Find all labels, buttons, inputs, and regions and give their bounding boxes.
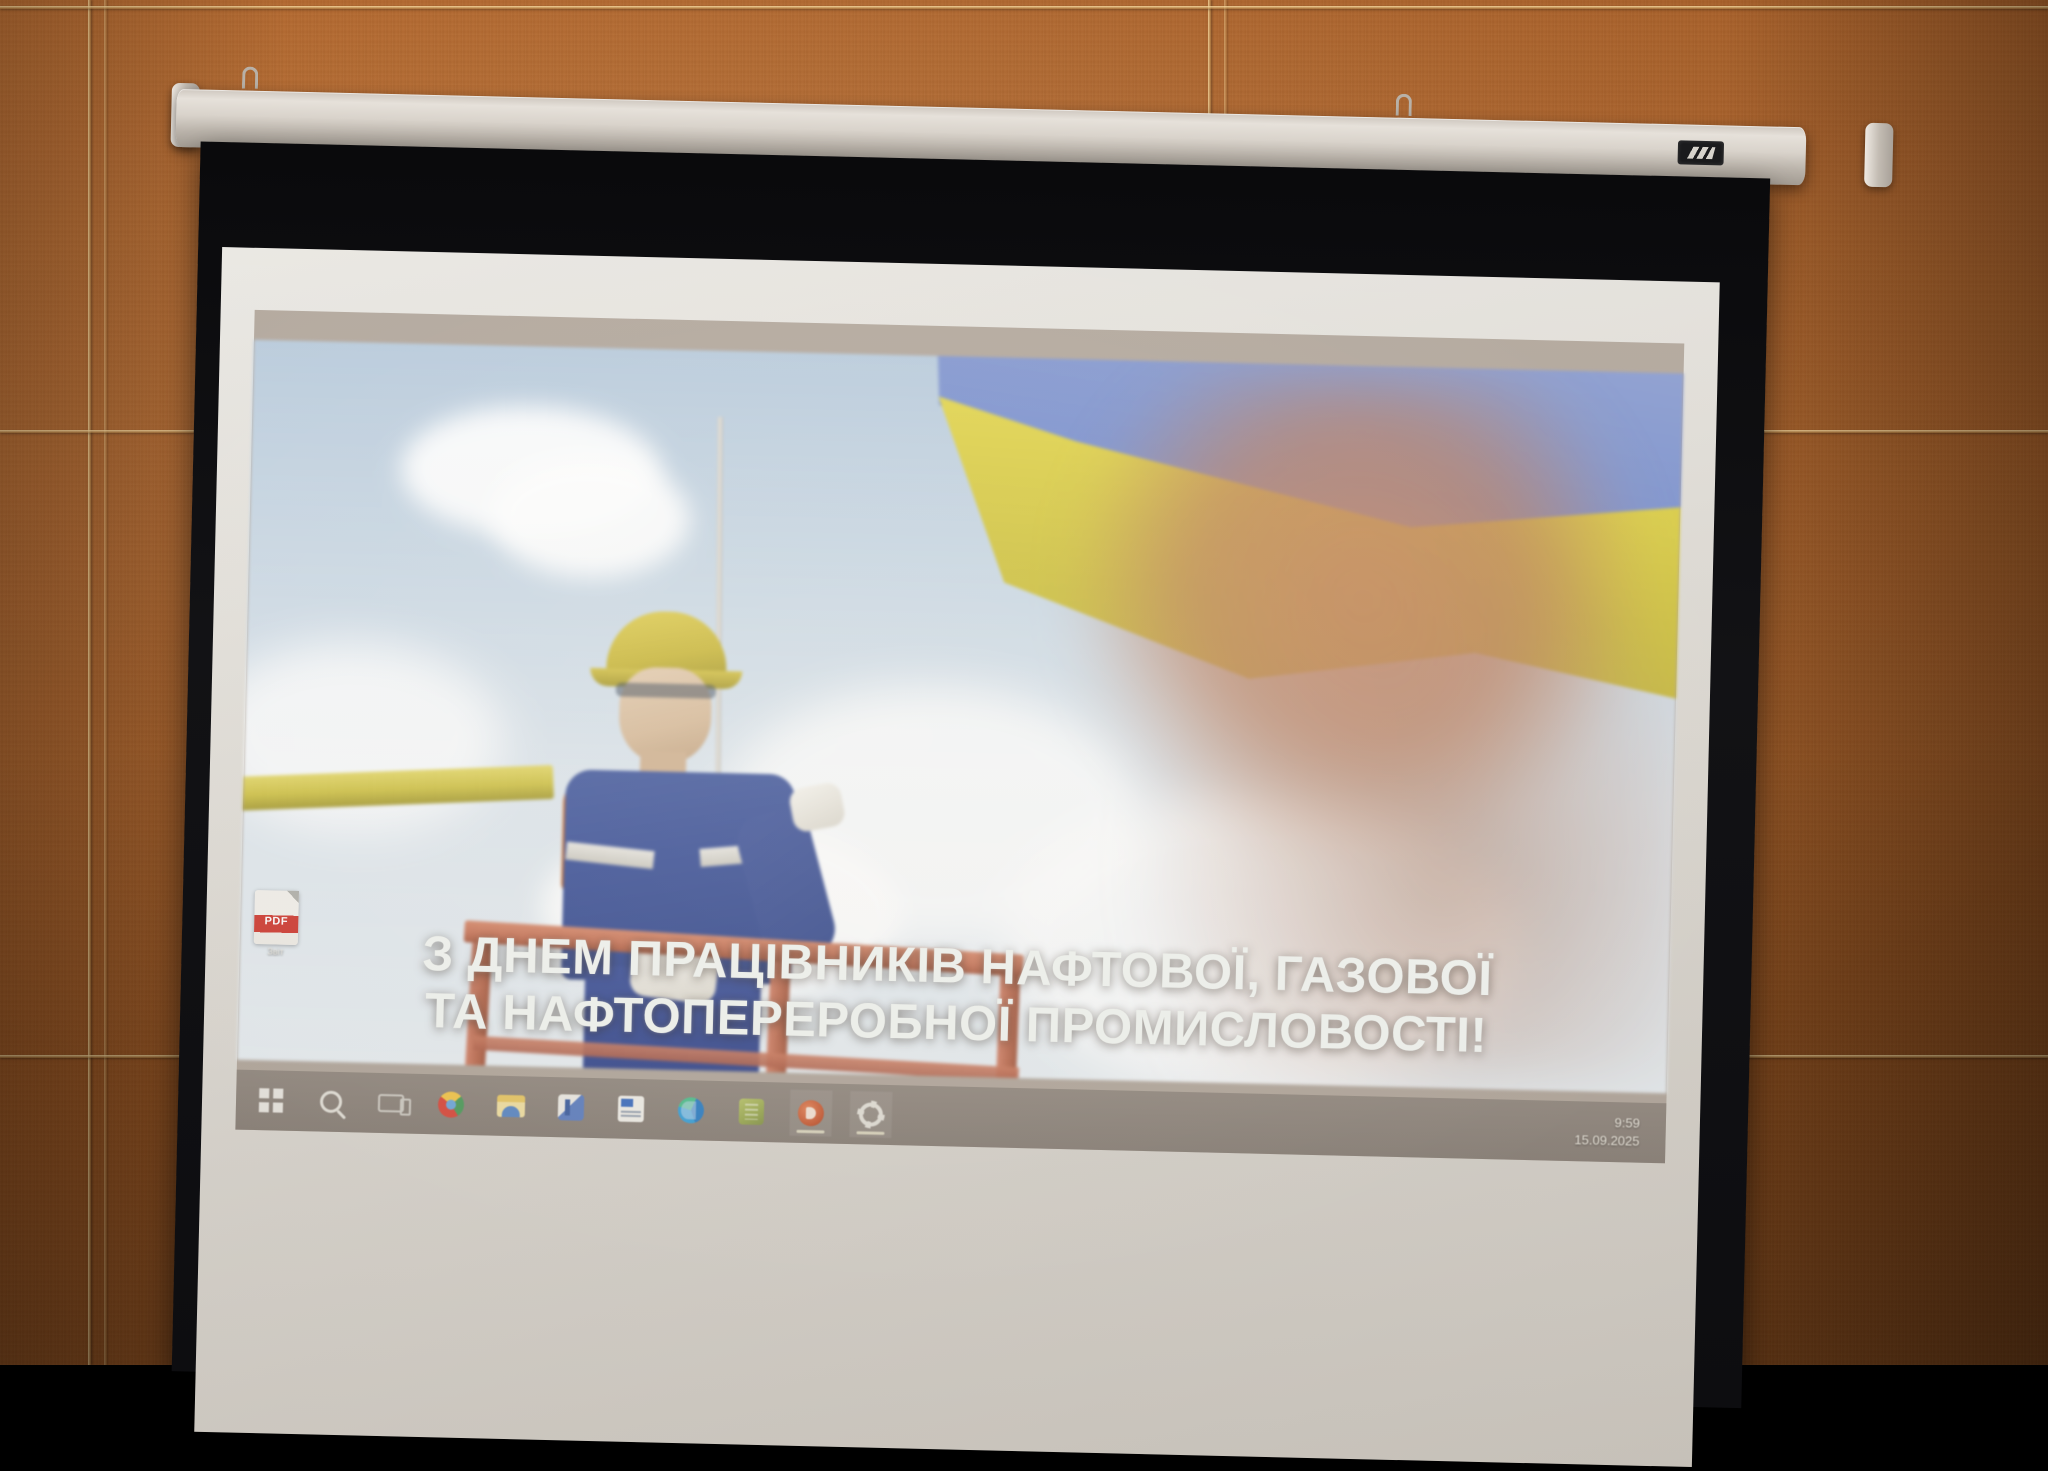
file-explorer-button[interactable] <box>489 1083 532 1130</box>
green-app-button[interactable] <box>729 1088 772 1135</box>
app-blue-button[interactable] <box>549 1084 592 1131</box>
manufacturer-logo-icon <box>1678 140 1725 165</box>
projection-surface: PDF Звіт З ДНЕМ ПРАЦІВНИКІВ НАФТОВОЇ, ГА… <box>194 247 1720 1467</box>
powerpoint-button[interactable] <box>789 1090 832 1137</box>
page-fold <box>287 891 299 903</box>
search-button[interactable] <box>310 1078 353 1125</box>
green-app-icon <box>738 1098 764 1125</box>
start-button[interactable] <box>250 1077 293 1124</box>
roller-end-cap <box>1864 123 1894 188</box>
chrome-icon <box>438 1091 465 1118</box>
edge-icon <box>678 1097 705 1124</box>
search-icon <box>320 1091 343 1114</box>
windows-logo-icon <box>259 1088 284 1113</box>
gear-icon <box>859 1102 884 1127</box>
settings-button[interactable] <box>849 1091 892 1138</box>
folder-icon <box>497 1095 526 1118</box>
wall-seam-vertical <box>88 0 91 1365</box>
ukrainian-flag <box>936 340 1684 800</box>
worker-face <box>618 667 712 765</box>
task-view-button[interactable] <box>369 1080 412 1127</box>
powerpoint-icon <box>798 1100 825 1127</box>
room-scene: PDF Звіт З ДНЕМ ПРАЦІВНИКІВ НАФТОВОЇ, ГА… <box>0 0 2048 1365</box>
projector-screen: PDF Звіт З ДНЕМ ПРАЦІВНИКІВ НАФТОВОЇ, ГА… <box>202 82 1832 1409</box>
wall-bracket <box>242 66 259 88</box>
wall-seam-horizontal <box>0 6 2048 9</box>
wall-bracket <box>1396 94 1413 116</box>
document-icon <box>618 1096 645 1123</box>
taskbar-clock[interactable]: 9:59 15.09.2025 <box>1574 1114 1666 1151</box>
app-blue-icon <box>558 1094 585 1121</box>
screen-black-border: PDF Звіт З ДНЕМ ПРАЦІВНИКІВ НАФТОВОЇ, ГА… <box>172 142 1771 1409</box>
edge-button[interactable] <box>669 1087 712 1134</box>
windows-desktop: PDF Звіт З ДНЕМ ПРАЦІВНИКІВ НАФТОВОЇ, ГА… <box>235 310 1684 1163</box>
clock-date: 15.09.2025 <box>1574 1131 1639 1150</box>
safety-glasses <box>616 682 716 698</box>
document-button[interactable] <box>609 1085 652 1132</box>
work-glove <box>788 781 847 834</box>
taskbar-icon-group <box>236 1077 893 1138</box>
chrome-button[interactable] <box>429 1081 472 1128</box>
clock-time: 9:59 <box>1575 1114 1640 1133</box>
wall-seam-vertical <box>104 0 107 1365</box>
task-view-icon <box>378 1094 404 1113</box>
